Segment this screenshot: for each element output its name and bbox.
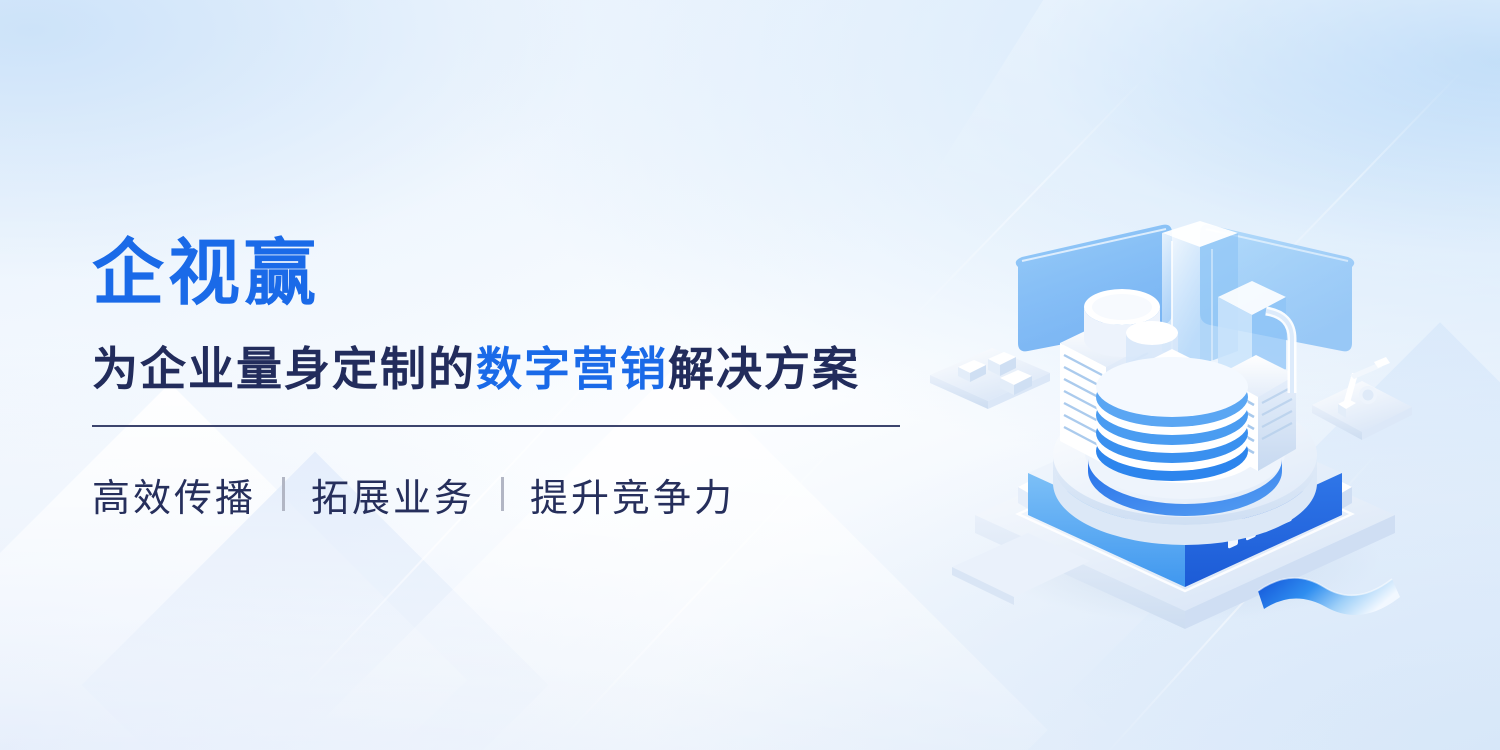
isometric-city-platform-icon	[900, 215, 1480, 645]
tagline-item-3: 提升竞争力	[530, 467, 735, 522]
tagline-separator-icon	[501, 477, 504, 511]
divider-rule	[92, 425, 900, 427]
mini-building-tile-icon	[930, 348, 1050, 409]
hero-illustration	[900, 215, 1480, 645]
tagline-item-1: 高效传播	[92, 467, 256, 522]
headline-tail: 解决方案	[668, 343, 860, 395]
headline-lead: 为企业量身定制的	[92, 343, 476, 395]
headline: 为企业量身定制的数字营销解决方案	[92, 344, 912, 396]
tagline: 高效传播 拓展业务 提升竞争力	[92, 467, 912, 522]
stacked-discs	[1096, 357, 1248, 481]
page-title: 企视赢	[92, 238, 912, 310]
promo-banner: 企视赢 为企业量身定制的数字营销解决方案 高效传播 拓展业务 提升竞争力	[0, 0, 1500, 750]
banner-copy: 企视赢 为企业量身定制的数字营销解决方案 高效传播 拓展业务 提升竞争力	[92, 238, 912, 522]
tagline-separator-icon	[282, 477, 285, 511]
robot-arm-tile-icon	[1312, 357, 1412, 440]
headline-accent: 数字营销	[476, 343, 668, 395]
tagline-item-2: 拓展业务	[311, 467, 475, 522]
